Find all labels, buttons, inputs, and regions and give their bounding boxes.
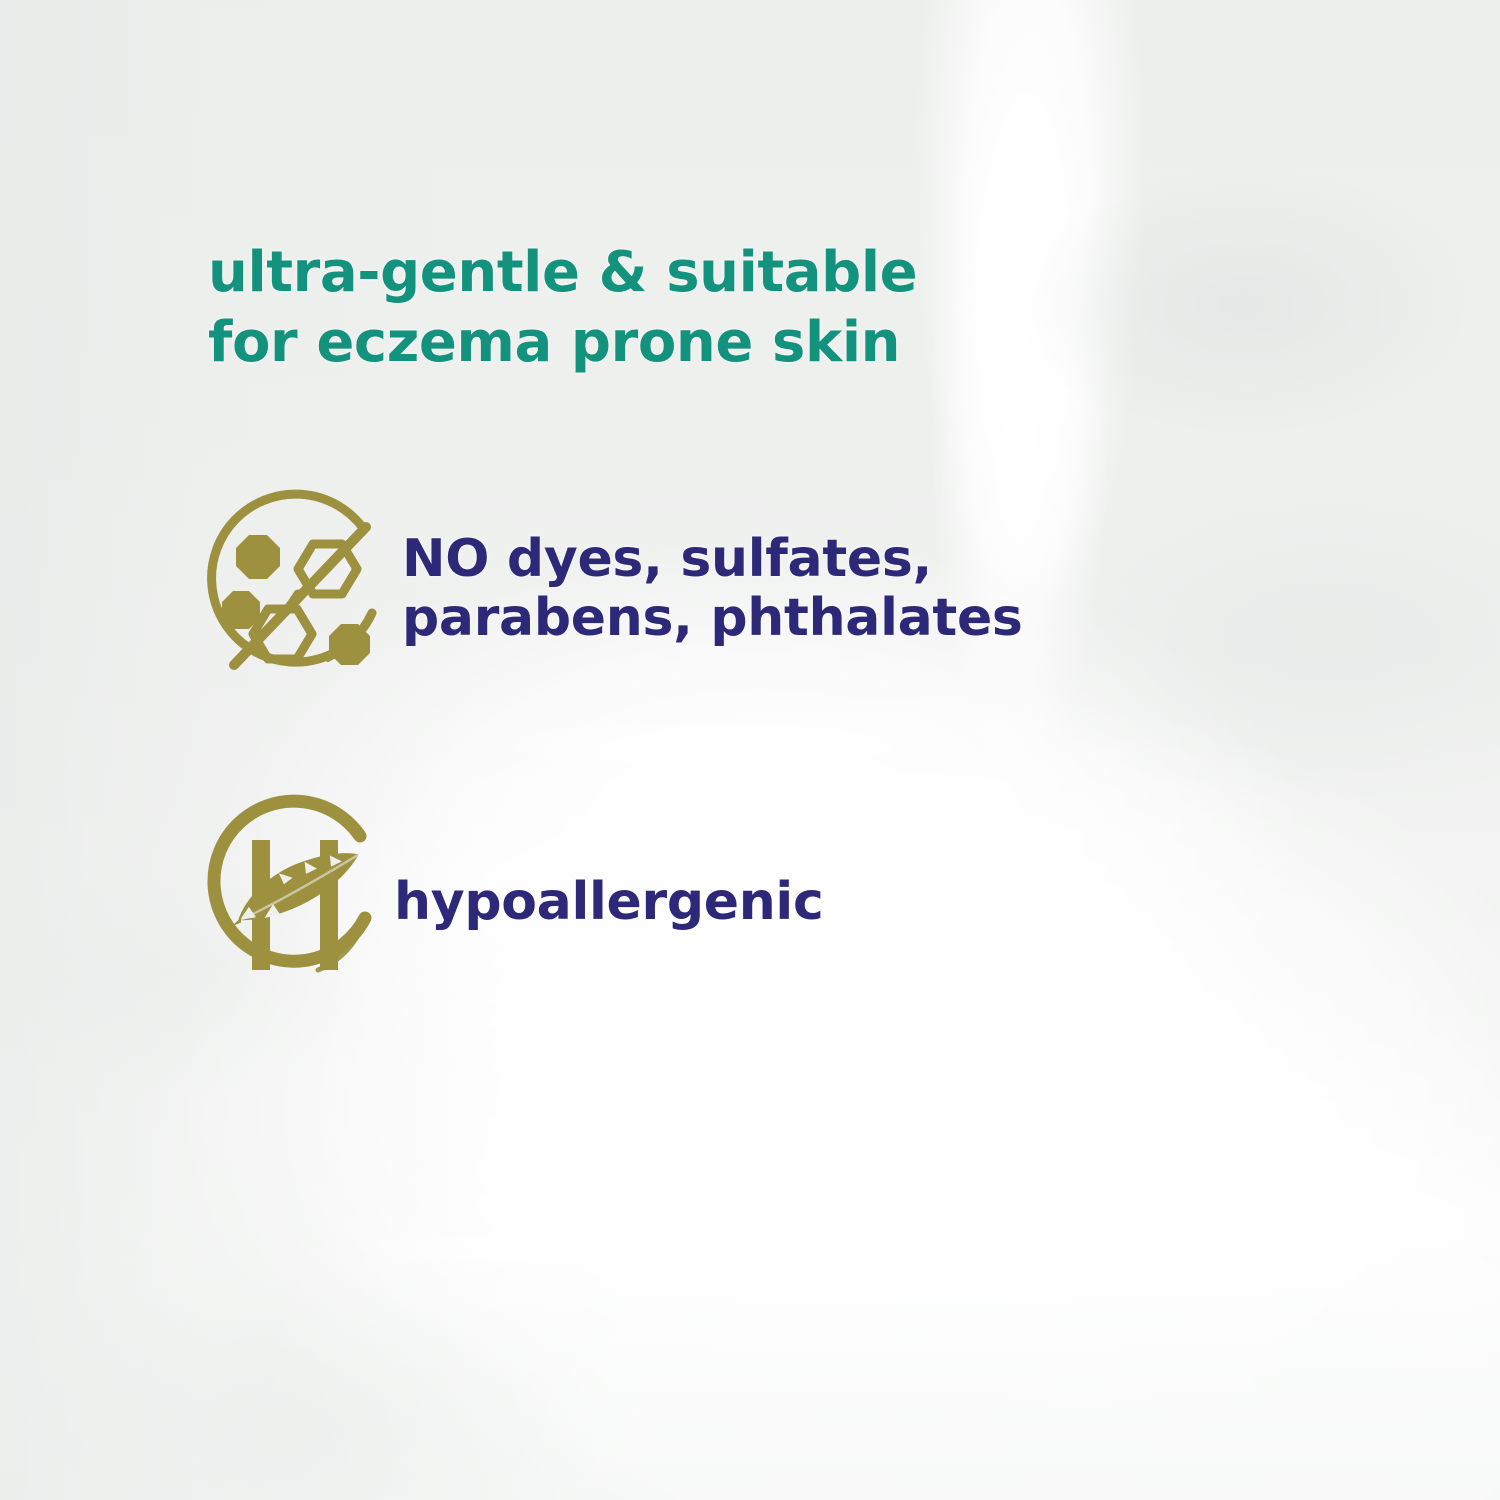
no-chemicals-icon xyxy=(200,487,396,691)
feature-no-chemicals-label: NO dyes, sulfates, parabens, phthalates xyxy=(402,530,1023,648)
hypoallergenic-icon xyxy=(200,790,390,1014)
content-layer: ultra-gentle & suitable for eczema prone… xyxy=(0,0,1500,1500)
page-title: ultra-gentle & suitable for eczema prone… xyxy=(208,238,1068,378)
infographic-canvas: ultra-gentle & suitable for eczema prone… xyxy=(0,0,1500,1500)
feature-hypoallergenic: hypoallergenic xyxy=(200,790,823,1014)
feature-no-chemicals: NO dyes, sulfates, parabens, phthalates xyxy=(200,487,1023,691)
feature-hypoallergenic-label: hypoallergenic xyxy=(394,873,823,932)
